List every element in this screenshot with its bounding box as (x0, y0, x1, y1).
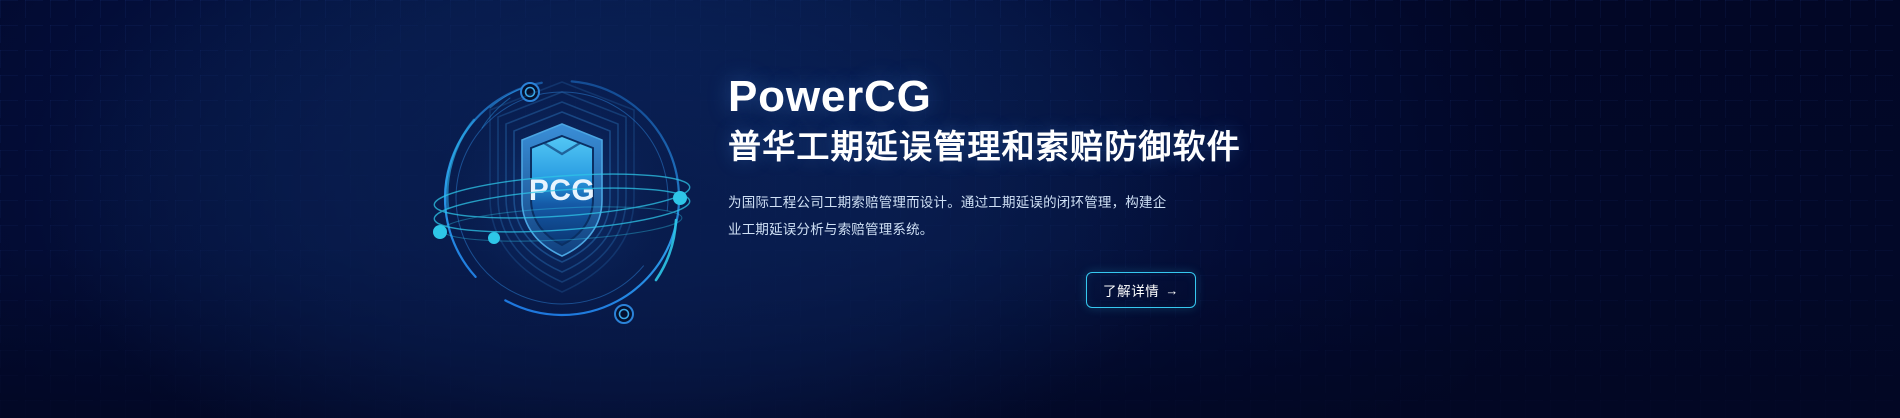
orbit-dot-right (673, 191, 687, 205)
hero-banner: PCG PowerCG 普华工期延误管理和索赔防御软件 为国际工程公司工期索赔管… (0, 0, 1900, 418)
arrow-right-icon: → (1165, 284, 1179, 297)
product-title: PowerCG (728, 74, 1628, 120)
orbit-dot-inner-left (488, 232, 500, 244)
product-description: 为国际工程公司工期索赔管理而设计。通过工期延误的闭环管理，构建企业工期延误分析与… (728, 189, 1180, 243)
pcg-shield-emblem: PCG (418, 48, 706, 336)
learn-more-label: 了解详情 (1103, 280, 1159, 300)
cta-container: 了解详情 → (1086, 272, 1196, 308)
learn-more-button[interactable]: 了解详情 → (1086, 272, 1196, 308)
emblem-node-bottom (615, 305, 633, 323)
orbit-dot-left (433, 225, 447, 239)
product-subtitle: 普华工期延误管理和索赔防御软件 (728, 128, 1628, 167)
hero-text-column: PowerCG 普华工期延误管理和索赔防御软件 为国际工程公司工期索赔管理而设计… (728, 74, 1628, 243)
